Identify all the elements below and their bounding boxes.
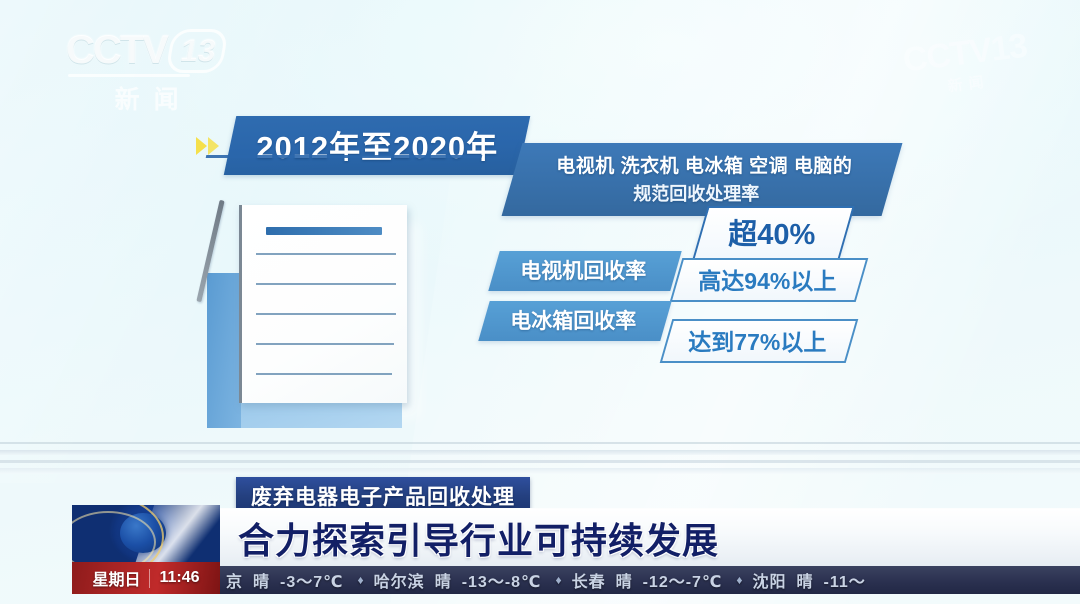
weather-ticker-row: 京晴-3～7℃♦哈尔滨晴-13～-8℃♦长春晴-12～-7℃♦沈阳晴-11～ — [220, 568, 880, 592]
channel-logo-text: CCTV — [66, 28, 167, 73]
weather-city: 沈阳 — [752, 568, 786, 592]
document-text-line — [256, 253, 396, 255]
weather-condition: 晴 — [435, 568, 452, 592]
stat-value-text: 达到77%以上 — [688, 323, 826, 357]
year-range-label: 2012年至2020年 — [256, 122, 498, 167]
stat-label-tv-recovery: 电视机回收率 — [488, 251, 681, 291]
weather-city: 哈尔滨 — [374, 568, 425, 592]
year-range-plate: 2012年至2020年 — [224, 116, 530, 175]
weather-condition: 晴 — [616, 568, 633, 592]
stat-label-line1: 电视机 洗衣机 电冰箱 空调 电脑的 — [556, 151, 852, 178]
stat-label-fridge-recovery: 电冰箱回收率 — [478, 301, 671, 341]
corner-watermark-text: CCTV13 — [900, 27, 1028, 80]
document-text-line — [256, 313, 396, 315]
clock-label: 11:46 — [159, 569, 199, 587]
topic-label: 废弃电器电子产品回收处理 — [251, 486, 515, 509]
channel-logo-underline — [68, 74, 190, 77]
weather-temperature: -11～ — [823, 568, 865, 592]
document-sheet — [239, 205, 407, 403]
document-text-line — [256, 343, 394, 345]
clipboard-spine — [207, 273, 241, 428]
document-heading-line — [266, 227, 382, 235]
news-globe-icon — [72, 505, 220, 562]
divider-streak — [0, 460, 1080, 463]
weather-separator-icon: ♦ — [736, 573, 743, 587]
weather-temperature: -12～-7℃ — [643, 568, 723, 592]
datetime-separator — [149, 569, 150, 588]
stat-value-recycling-rate: 超40% — [692, 206, 855, 260]
weather-ticker: 京晴-3～7℃♦哈尔滨晴-13～-8℃♦长春晴-12～-7℃♦沈阳晴-11～ — [220, 566, 1080, 594]
channel-logo-watermark: CCTV 13 新闻 — [66, 28, 225, 116]
document-text-line — [256, 283, 396, 285]
corner-channel-watermark: CCTV13 新闻 — [900, 27, 1031, 102]
channel-logo-subtitle: 新闻 — [66, 80, 225, 116]
headline-text: 合力探索引导行业可持续发展 — [238, 512, 719, 564]
stat-label-line2: 规范回收处理率 — [548, 180, 844, 206]
lower-third: 星期日 11:46 废弃电器电子产品回收处理 合力探索引导行业可持续发展 京晴-… — [0, 466, 1080, 604]
stat-value-fridge-recovery: 达到77%以上 — [660, 319, 859, 363]
headline-bar: 合力探索引导行业可持续发展 — [220, 508, 1080, 566]
corner-watermark-subtitle: 新闻 — [905, 65, 1031, 101]
divider-streak — [0, 442, 1080, 444]
document-with-pen-icon — [185, 175, 435, 440]
broadcast-frame: CCTV 13 新闻 CCTV13 新闻 2012年至2020年 电视 — [0, 0, 1080, 604]
weather-separator-icon: ♦ — [358, 573, 365, 587]
weather-temperature: -3～7℃ — [280, 568, 344, 592]
weather-city: 长春 — [572, 568, 606, 592]
weather-condition: 晴 — [253, 568, 270, 592]
weather-separator-icon: ♦ — [555, 573, 562, 587]
date-time-bar: 星期日 11:46 — [72, 562, 220, 594]
divider-streak — [0, 450, 1080, 455]
weather-city: 京 — [226, 568, 243, 592]
year-range-underline — [206, 155, 483, 158]
channel-logo-number: 13 — [165, 29, 229, 73]
weekday-label: 星期日 — [92, 566, 140, 590]
stat-value-tv-recovery: 高达94%以上 — [670, 258, 869, 302]
stat-label-text: 电视机回收率 — [520, 255, 646, 285]
year-range-banner: 2012年至2020年 — [196, 116, 524, 175]
stat-value-text: 超40% — [728, 211, 815, 253]
weather-temperature: -13～-8℃ — [462, 568, 542, 592]
stat-label-text: 电冰箱回收率 — [510, 305, 636, 335]
weather-condition: 晴 — [796, 568, 813, 592]
stat-value-text: 高达94%以上 — [698, 262, 836, 296]
document-text-line — [256, 373, 392, 375]
